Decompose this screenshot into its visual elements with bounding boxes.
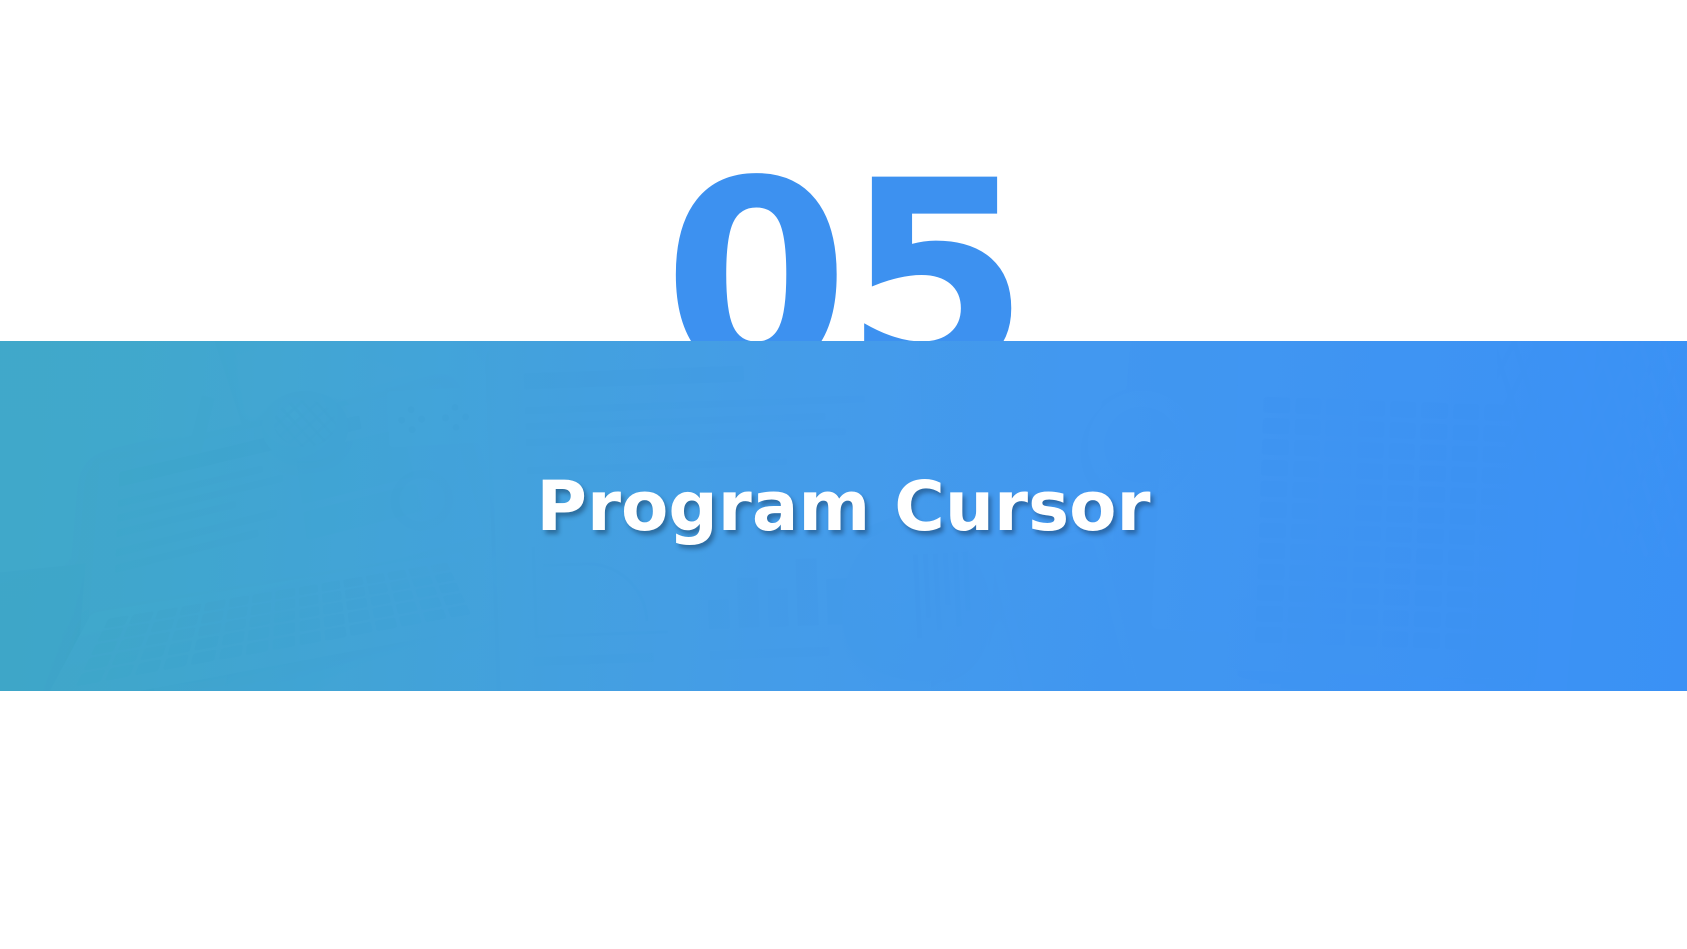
section-title: Program Cursor [536, 467, 1150, 547]
section-title-container: Program Cursor [0, 341, 1687, 691]
slide-canvas: 05 [0, 0, 1687, 949]
section-banner: Program Cursor [0, 341, 1687, 691]
